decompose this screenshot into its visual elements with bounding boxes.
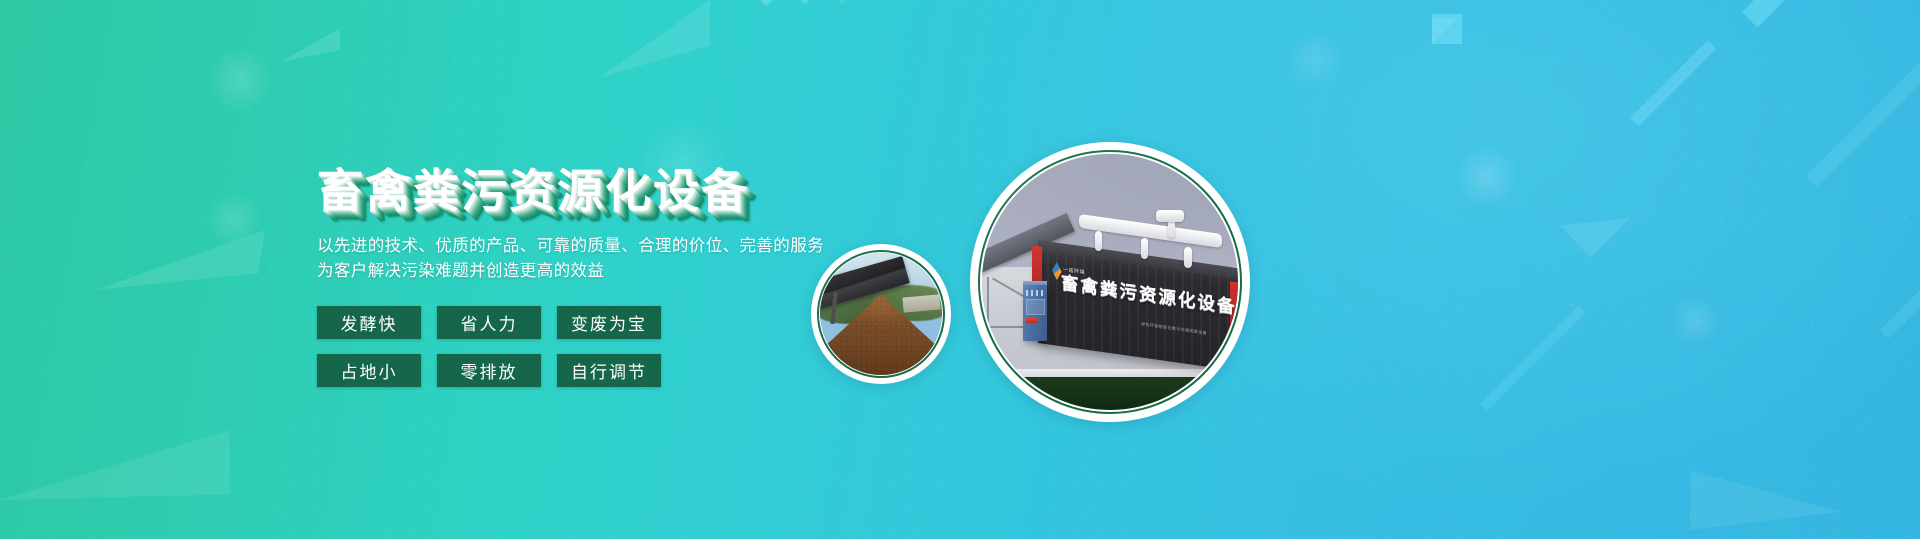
render-cabinet-emergency-button <box>1026 318 1037 324</box>
feature-tag-waste-to-treasure[interactable]: 变废为宝 <box>557 306 661 339</box>
decorative-stripe <box>1880 217 1920 339</box>
decorative-triangle <box>0 430 230 500</box>
page-title: 畜禽粪污资源化设备 <box>317 168 937 214</box>
bokeh-glow <box>1670 295 1722 347</box>
feature-tag-zero-emission[interactable]: 零排放 <box>437 354 541 387</box>
equipment-render-circle: 一诺环境 畜禽粪污资源化设备 绿色环保智能化粪污处理成套设备 <box>970 142 1250 422</box>
noise-texture-overlay <box>0 0 1920 539</box>
feature-tag-fermentation-fast[interactable]: 发酵快 <box>317 306 421 339</box>
decorative-corner <box>1432 18 1458 44</box>
decorative-stripe <box>838 0 879 4</box>
decorative-stripe <box>760 0 834 6</box>
feature-tag-small-footprint[interactable]: 占地小 <box>317 354 421 387</box>
bokeh-glow <box>1455 145 1519 209</box>
subtitle-line-1: 以先进的技术、优质的产品、可靠的质量、合理的价位、完善的服务 <box>317 237 824 255</box>
render-pipe-tee <box>1156 210 1184 222</box>
decorative-triangle <box>1560 218 1630 258</box>
render-pipe-riser <box>1095 231 1103 251</box>
decorative-stripe <box>1742 0 1864 28</box>
compost-pile-photo <box>820 253 942 375</box>
decorative-triangle <box>95 230 265 290</box>
decorative-triangle <box>280 28 340 68</box>
feature-tag-labor-saving[interactable]: 省人力 <box>437 306 541 339</box>
equipment-render-image: 一诺环境 畜禽粪污资源化设备 绿色环保智能化粪污处理成套设备 <box>982 154 1238 410</box>
feature-tag-list: 发酵快 省人力 变废为宝 占地小 零排放 自行调节 <box>317 306 667 387</box>
render-cabinet-panel <box>1026 299 1045 315</box>
decorative-stripe <box>1806 20 1920 187</box>
feature-tag-self-adjusting[interactable]: 自行调节 <box>557 354 661 387</box>
photo-wall <box>902 294 940 312</box>
bokeh-glow <box>205 45 275 115</box>
bokeh-glow <box>1285 30 1345 90</box>
decorative-triangle <box>560 0 710 78</box>
decorative-stripe <box>800 0 854 5</box>
bokeh-glow <box>205 190 263 248</box>
decorative-stripe <box>1630 40 1716 126</box>
decorative-triangle <box>1432 14 1462 44</box>
render-cabinet-indicators <box>1026 290 1043 296</box>
decorative-stripe <box>1480 305 1586 411</box>
render-grass <box>982 377 1238 410</box>
compost-pile-circle <box>811 244 951 384</box>
promo-banner: 畜禽粪污资源化设备 以先进的技术、优质的产品、可靠的质量、合理的价位、完善的服务… <box>0 0 1920 539</box>
decorative-triangle <box>1690 470 1840 530</box>
render-pipe-riser <box>1141 238 1149 258</box>
render-pipe-riser <box>1184 247 1192 267</box>
decorative-triangle <box>1430 18 1456 44</box>
